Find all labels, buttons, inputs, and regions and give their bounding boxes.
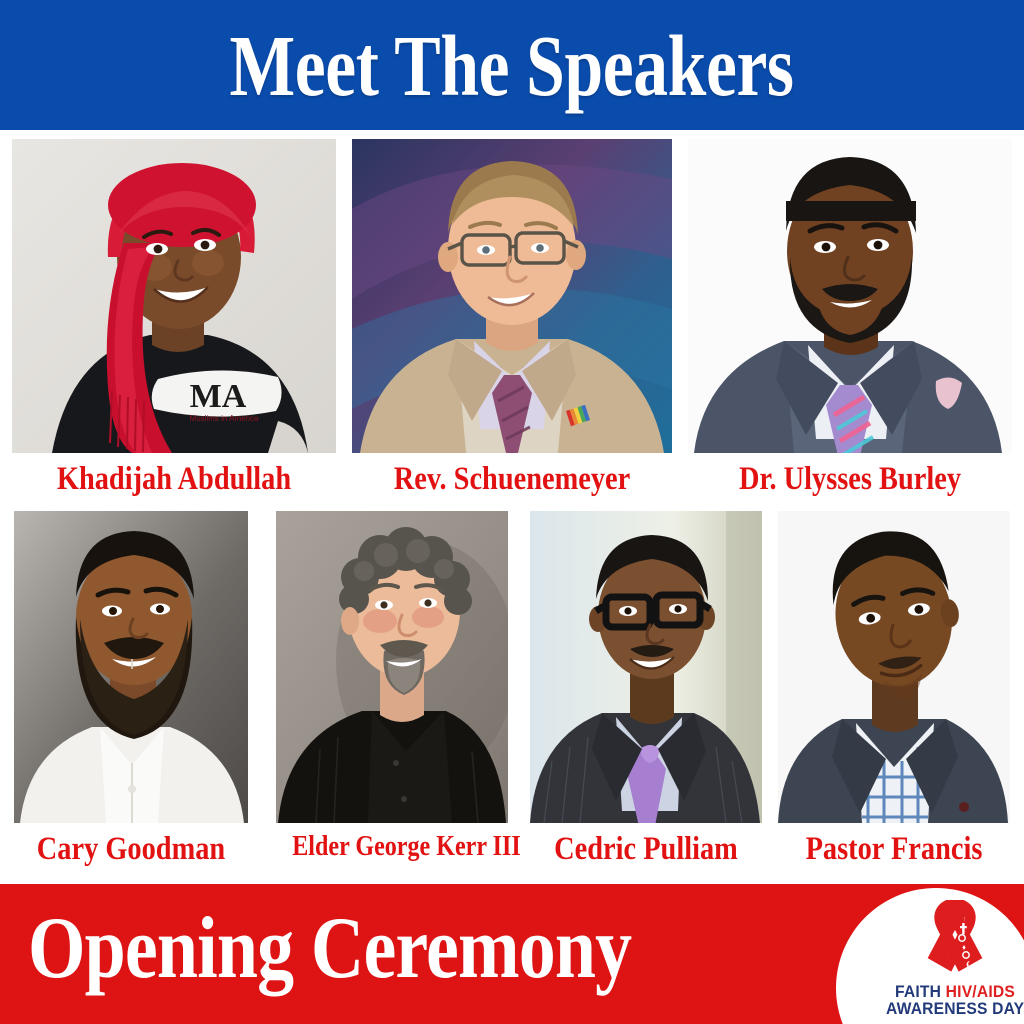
footer-title: Opening Ceremony [28, 901, 631, 996]
speaker-photo-elder-george-kerr-iii [276, 511, 508, 823]
speaker-card-rev-schuenemeyer[interactable]: Rev. Schuenemeyer [352, 139, 672, 497]
speaker-name-pastor-francis: Pastor Francis [794, 832, 994, 867]
speaker-name-cedric-pulliam: Cedric Pulliam [546, 832, 746, 867]
logo-line-1: FAITH HIV/AIDS [886, 983, 1024, 1000]
header-banner: Meet The Speakers [0, 0, 1024, 130]
speaker-card-pastor-francis[interactable]: Pastor Francis [778, 511, 1010, 867]
logo-faith-text: FAITH [895, 982, 941, 1001]
speaker-card-khadijah-abdullah[interactable]: MA Muslims in America Khadijah Abdullah [12, 139, 336, 497]
footer-banner: Opening Ceremony FAITH HIV/AIDS [0, 884, 1024, 1024]
speaker-name-elder-george-kerr-iii: Elder George Kerr III [292, 832, 492, 861]
speaker-photo-cary-goodman [14, 511, 248, 823]
logo-line-2: AWARENESS DAY [886, 1000, 1024, 1017]
logo-hivaids-text: HIV/AIDS [946, 982, 1015, 1001]
speakers-row-1: MA Muslims in America Khadijah Abdullah [0, 131, 1024, 503]
speaker-name-dr-ulysses-burley: Dr. Ulysses Burley [711, 462, 990, 497]
svg-text:MA: MA [190, 378, 247, 415]
speaker-name-cary-goodman: Cary Goodman [30, 832, 231, 867]
speaker-card-elder-george-kerr-iii[interactable]: Elder George Kerr III [276, 511, 508, 861]
speaker-card-cary-goodman[interactable]: Cary Goodman [14, 511, 248, 867]
speaker-photo-rev-schuenemeyer [352, 139, 672, 453]
speaker-photo-pastor-francis [778, 511, 1010, 823]
speaker-card-cedric-pulliam[interactable]: Cedric Pulliam [530, 511, 762, 867]
speaker-name-rev-schuenemeyer: Rev. Schuenemeyer [374, 462, 649, 497]
aids-ribbon-icon [918, 900, 992, 982]
speakers-row-2: Cary Goodman [0, 505, 1024, 883]
page-title: Meet The Speakers [230, 22, 794, 109]
faith-hiv-aids-awareness-day-logo: FAITH HIV/AIDS AWARENESS DAY [880, 900, 1024, 1018]
speaker-name-khadijah-abdullah: Khadijah Abdullah [35, 462, 314, 497]
speaker-photo-cedric-pulliam [530, 511, 762, 823]
speaker-card-dr-ulysses-burley[interactable]: Dr. Ulysses Burley [688, 139, 1012, 497]
poster: Meet The Speakers [0, 0, 1024, 1024]
speaker-photo-khadijah-abdullah: MA Muslims in America [12, 139, 336, 453]
logo-wordmark: FAITH HIV/AIDS AWARENESS DAY [880, 983, 1024, 1018]
speaker-photo-dr-ulysses-burley [688, 139, 1012, 453]
svg-text:Muslims in America: Muslims in America [190, 414, 259, 423]
